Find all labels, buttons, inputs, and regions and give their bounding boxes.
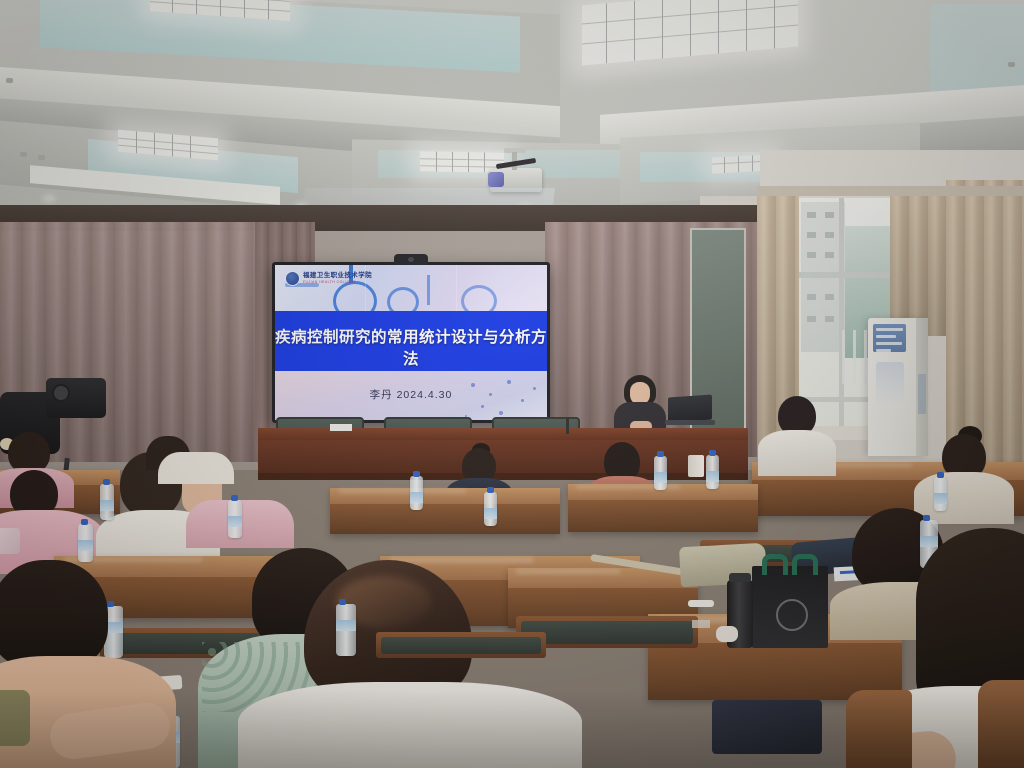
projector [490, 168, 542, 192]
slide: 福建卫生职业技术学院 FUJIAN HEALTH COLLEGE 疾病控制研究的… [275, 265, 547, 420]
attendee-lace-blouse [918, 432, 1010, 516]
slide-institution-logo: 福建卫生职业技术学院 FUJIAN HEALTH COLLEGE [285, 271, 372, 286]
conference-camera-icon [394, 254, 428, 265]
starbucks-logo-icon [776, 599, 808, 631]
institution-name-cn: 福建卫生职业技术学院 [303, 273, 372, 280]
presentation-display[interactable]: 福建卫生职业技术学院 FUJIAN HEALTH COLLEGE 疾病控制研究的… [272, 262, 550, 423]
air-conditioner-display[interactable] [873, 324, 906, 352]
slide-footer-image: 李丹 2024.4.30 [275, 371, 547, 420]
camera-lens-icon [52, 384, 70, 402]
sprinkler-head [20, 152, 27, 157]
curtain-rod [757, 186, 1024, 196]
projector-lens [488, 172, 504, 187]
curtain-beige-right [946, 180, 1024, 470]
presenter [612, 375, 668, 435]
water-bottle[interactable] [228, 500, 242, 538]
attendee-far-back-center [158, 452, 234, 484]
air-conditioner-label [918, 374, 926, 414]
paper-coffee-cup[interactable] [690, 604, 712, 642]
downlight [44, 196, 54, 201]
water-bottle[interactable] [100, 484, 114, 520]
slide-author-line: 李丹 2024.4.30 [275, 387, 547, 402]
desk-row-2-right [568, 484, 758, 532]
water-bottle[interactable] [410, 476, 423, 510]
tote-handle [762, 554, 788, 575]
air-conditioner-vent [876, 362, 904, 408]
water-bottle[interactable] [484, 492, 497, 526]
lecture-hall-photo: 福建卫生职业技术学院 FUJIAN HEALTH COLLEGE 疾病控制研究的… [0, 0, 1024, 768]
shirt-print [0, 528, 20, 554]
cup-lid [688, 600, 714, 607]
slide-title: 疾病控制研究的常用统计设计与分析方法 [275, 325, 547, 369]
sprinkler-head [1008, 62, 1015, 67]
college-seal-icon [285, 271, 300, 286]
water-bottle[interactable] [336, 604, 356, 656]
water-bottle[interactable] [934, 477, 947, 511]
curtain-beige-middle [890, 186, 952, 336]
water-bottle[interactable] [654, 456, 667, 490]
attendee-white-polo-right [758, 396, 836, 472]
paper-cup-small[interactable] [688, 455, 704, 477]
presenter-laptop[interactable] [668, 396, 712, 426]
bench-center [376, 632, 546, 658]
tote-handle [792, 554, 818, 575]
shoulders [758, 430, 836, 476]
institution-name-en: FUJIAN HEALTH COLLEGE [303, 281, 372, 284]
crumpled-tissue [716, 626, 738, 642]
sprinkler-head [38, 155, 45, 160]
head [0, 560, 108, 668]
cup-sleeve [692, 620, 710, 628]
sprinkler-head [6, 78, 13, 83]
starbucks-tote-bag[interactable] [752, 566, 828, 648]
water-bottle[interactable] [78, 524, 93, 562]
podium-microphone [566, 418, 569, 434]
desk-row-2-left [330, 488, 560, 534]
podium-paper [330, 424, 352, 431]
water-bottle[interactable] [706, 455, 719, 489]
